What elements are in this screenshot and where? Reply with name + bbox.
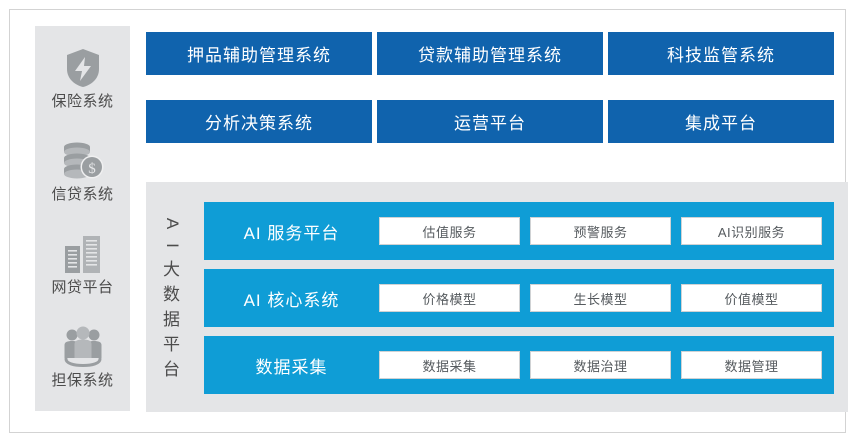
shield-bolt-icon: [60, 46, 106, 90]
business-systems-sidebar: 保险系统 $ 信贷系统: [35, 26, 130, 411]
sidebar-item-online-lending[interactable]: 网贷平台: [35, 232, 130, 298]
ai-bigdata-platform-panel: A I 大 数 据 平 台 AI 服务平台 估值服务 预警服务 AI识别服务 A…: [146, 182, 848, 412]
platform-item-warning-service[interactable]: 预警服务: [530, 217, 671, 245]
platform-item-valuation-service[interactable]: 估值服务: [379, 217, 520, 245]
platform-row-title-ai-core: AI 核心系统: [204, 286, 379, 311]
sidebar-item-insurance[interactable]: 保险系统: [35, 46, 130, 112]
systems-row-1: 押品辅助管理系统 贷款辅助管理系统 科技监管系统: [146, 32, 834, 75]
platform-item-data-governance[interactable]: 数据治理: [530, 351, 671, 379]
platform-item-value-model[interactable]: 价值模型: [681, 284, 822, 312]
platform-row-ai-core: AI 核心系统 价格模型 生长模型 价值模型: [204, 269, 834, 327]
platform-item-growth-model[interactable]: 生长模型: [530, 284, 671, 312]
system-button-integration-platform[interactable]: 集成平台: [608, 100, 834, 143]
vertical-char-tai: 台: [163, 357, 181, 382]
platform-row-ai-service: AI 服务平台 估值服务 预警服务 AI识别服务: [204, 202, 834, 260]
platform-row-items-ai-core: 价格模型 生长模型 价值模型: [379, 284, 822, 312]
sidebar-label-insurance: 保险系统: [51, 92, 113, 112]
platform-item-data-management[interactable]: 数据管理: [681, 351, 822, 379]
platform-item-data-collection[interactable]: 数据采集: [379, 351, 520, 379]
sidebar-item-credit[interactable]: $ 信贷系统: [35, 139, 130, 205]
system-button-tech-supervision[interactable]: 科技监管系统: [608, 32, 834, 75]
people-group-icon: [60, 325, 106, 369]
buildings-icon: [60, 232, 106, 276]
vertical-char-shu: 数: [163, 282, 181, 307]
platform-row-items-ai-service: 估值服务 预警服务 AI识别服务: [379, 217, 822, 245]
coins-dollar-icon: $: [60, 139, 106, 183]
vertical-char-da: 大: [163, 257, 181, 282]
vertical-char-ping: 平: [163, 332, 181, 357]
platform-item-ai-recognition-service[interactable]: AI识别服务: [681, 217, 822, 245]
vertical-char-ju: 据: [163, 307, 181, 332]
system-button-collateral-aux-mgmt[interactable]: 押品辅助管理系统: [146, 32, 372, 75]
platform-row-data-collection: 数据采集 数据采集 数据治理 数据管理: [204, 336, 834, 394]
platform-row-title-data-collection: 数据采集: [204, 353, 379, 378]
platform-vertical-label: A I 大 数 据 平 台: [146, 182, 198, 412]
system-button-operations-platform[interactable]: 运营平台: [377, 100, 603, 143]
sidebar-label-online-lending: 网贷平台: [51, 278, 113, 298]
sidebar-label-guarantee: 担保系统: [51, 371, 113, 391]
platform-row-items-data-collection: 数据采集 数据治理 数据管理: [379, 351, 822, 379]
platform-rows: AI 服务平台 估值服务 预警服务 AI识别服务 AI 核心系统 价格模型 生长…: [198, 182, 848, 412]
systems-row-2: 分析决策系统 运营平台 集成平台: [146, 100, 834, 143]
svg-text:$: $: [88, 161, 96, 177]
system-button-loan-aux-mgmt[interactable]: 贷款辅助管理系统: [377, 32, 603, 75]
top-systems-area: 押品辅助管理系统 贷款辅助管理系统 科技监管系统 分析决策系统 运营平台 集成平…: [146, 32, 834, 143]
platform-row-title-ai-service: AI 服务平台: [204, 219, 379, 244]
diagram-frame: 保险系统 $ 信贷系统: [9, 9, 846, 433]
system-button-analysis-decision[interactable]: 分析决策系统: [146, 100, 372, 143]
sidebar-label-credit: 信贷系统: [51, 185, 113, 205]
vertical-char-i: I: [161, 243, 183, 249]
sidebar-item-guarantee[interactable]: 担保系统: [35, 325, 130, 391]
platform-item-price-model[interactable]: 价格模型: [379, 284, 520, 312]
vertical-char-a: A: [161, 217, 183, 229]
